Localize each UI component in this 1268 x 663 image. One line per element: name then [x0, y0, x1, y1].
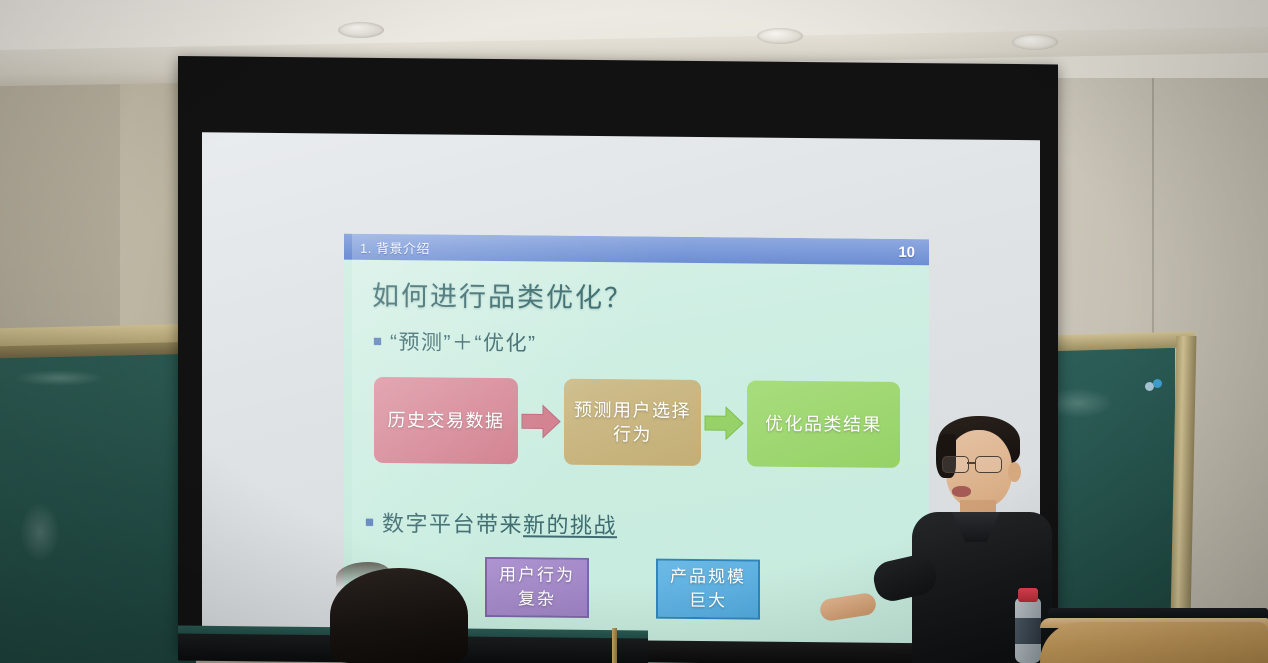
water-bottle-cap [1018, 588, 1038, 602]
challenge-2-line2: 巨大 [689, 591, 727, 610]
podium [1040, 622, 1268, 663]
flow-arrow-2-icon [701, 403, 747, 443]
chalkboard-left [0, 352, 196, 663]
slide-page-number: 10 [898, 243, 915, 260]
audience-member-head [330, 568, 468, 663]
slide-title: 如何进行品类优化？ [372, 274, 633, 316]
ceiling-vent-icon [757, 28, 803, 44]
slide-bullet-2-lead: 数字平台带来 [382, 511, 523, 537]
ceiling-vent-icon [338, 22, 384, 38]
glasses-icon [942, 456, 1004, 472]
wall-left-panel [0, 52, 120, 352]
flow-box-historical-transaction-data: 历史交易数据 [374, 377, 518, 464]
challenge-box-complex-user-behavior: 用户行为 复杂 [485, 557, 589, 618]
slide-bullet-1: “预测”＋“优化” [374, 326, 536, 358]
chalk-smudge [14, 370, 104, 386]
challenge-2-line1: 产品规模 [670, 567, 746, 587]
pointer-stick [612, 628, 617, 663]
presenter-ear [1008, 462, 1021, 482]
bullet-marker-icon [374, 337, 381, 344]
presenter-mouth [952, 486, 971, 497]
slide-bullet-2-underlined: 新的挑战 [523, 512, 617, 538]
slide-bullet-2: 数字平台带来新的挑战 [366, 506, 617, 540]
water-bottle-label [1015, 618, 1041, 644]
challenge-1-line1: 用户行为 [499, 565, 575, 585]
challenge-box-huge-product-scale: 产品规模 巨大 [656, 559, 760, 620]
slide-section-label: 1. 背景介绍 [360, 237, 430, 257]
flow-box-2-line1: 预测用户选择 [574, 400, 691, 421]
flow-arrow-1-icon [518, 401, 564, 441]
glasses-lens-right [975, 456, 1002, 473]
bullet-marker-icon [366, 518, 373, 525]
magnet-icon [1153, 379, 1162, 388]
slide-bullet-1-text: “预测”＋“优化” [390, 326, 536, 357]
glasses-bridge [967, 462, 975, 464]
challenge-1-line2: 复杂 [518, 589, 556, 608]
lecture-photo-scene: 1. 背景介绍 10 如何进行品类优化？ “预测”＋“优化” 历史交易数据 预测… [0, 0, 1268, 663]
chalk-smudge [20, 502, 60, 562]
slide-header-bar: 1. 背景介绍 10 [344, 234, 929, 266]
flow-box-optimize-category-result: 优化品类结果 [747, 380, 900, 467]
flow-box-predict-user-choice-behavior: 预测用户选择 行为 [564, 379, 701, 466]
glasses-lens-left [942, 456, 969, 473]
flow-box-2-line2: 行为 [613, 424, 652, 444]
ceiling-vent-icon [1012, 34, 1058, 50]
slide-bullet-2-text: 数字平台带来新的挑战 [382, 506, 617, 540]
slide-flow-diagram: 历史交易数据 预测用户选择 行为 优化品类结果 [374, 374, 914, 471]
